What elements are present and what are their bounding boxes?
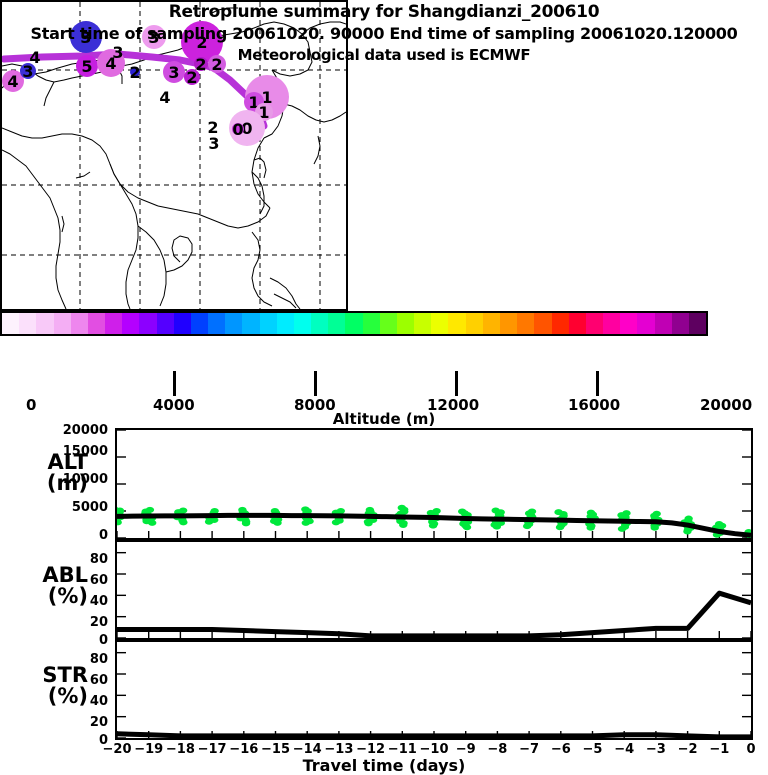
colorbar-divider [173, 371, 176, 396]
x-tick-label-2: −18 [165, 742, 195, 757]
colorbar-segment-24 [414, 313, 431, 334]
abl-ytick-20: 20 [46, 615, 108, 630]
colorbar-segment-0 [2, 313, 19, 334]
str-ytick-60: 60 [46, 673, 108, 688]
colorbar-segment-40 [689, 313, 706, 334]
abl-plot-panel[interactable] [115, 540, 753, 640]
str-line [117, 734, 751, 737]
plume-marker-label-0: 4 [7, 72, 18, 91]
colorbar-segment-9 [157, 313, 174, 334]
colorbar-segment-29 [500, 313, 517, 334]
alt-ytick-5000: 5000 [46, 500, 108, 515]
colorbar-segment-31 [534, 313, 551, 334]
colorbar-segment-28 [483, 313, 500, 334]
x-axis-title: Travel time (days) [0, 756, 768, 775]
sampling-time-line: Start time of sampling 20061020. 90000 E… [0, 24, 768, 43]
x-tick-label-4: −16 [229, 742, 259, 757]
colorbar-segment-30 [517, 313, 534, 334]
plume-marker-label-11: 3 [168, 63, 179, 82]
alt-scatter-point [366, 507, 374, 513]
x-tick-label-15: −5 [578, 742, 608, 757]
colorbar-segment-39 [672, 313, 689, 334]
colorbar-segment-1 [19, 313, 36, 334]
colorbar-segment-11 [191, 313, 208, 334]
alt-scatter-point [238, 507, 246, 513]
colorbar-segment-21 [363, 313, 380, 334]
colorbar-segment-14 [242, 313, 259, 334]
abl-axis-ticks [117, 553, 751, 638]
alt-scatter-point [301, 506, 309, 512]
colorbar-segment-3 [54, 313, 71, 334]
x-tick-label-17: −3 [641, 742, 671, 757]
alt-ytick-10000: 10000 [46, 472, 108, 487]
x-tick-label-0: −20 [102, 742, 132, 757]
alt-ytick-20000: 20000 [46, 423, 108, 438]
met-data-line: Meteorological data used is ECMWF [0, 46, 768, 64]
colorbar-segment-8 [139, 313, 156, 334]
alt-scatter-point [587, 510, 595, 516]
colorbar-segment-36 [620, 313, 637, 334]
colorbar-segment-34 [586, 313, 603, 334]
x-tick-label-7: −13 [324, 742, 354, 757]
alt-scatter-point [179, 507, 187, 513]
colorbar-divider [596, 371, 599, 396]
colorbar-segment-17 [294, 313, 311, 334]
alt-scatter-point [715, 521, 723, 527]
str-ytick-0: 0 [46, 733, 108, 748]
x-tick-label-6: −14 [292, 742, 322, 757]
x-tick-label-16: −4 [609, 742, 639, 757]
altitude-colorbar[interactable] [0, 311, 708, 336]
colorbar-segment-19 [328, 313, 345, 334]
x-tick-label-8: −12 [356, 742, 386, 757]
x-tick-label-19: −1 [704, 742, 734, 757]
colorbar-segment-6 [105, 313, 122, 334]
colorbar-axis-title: Altitude (m) [0, 410, 768, 428]
colorbar-segment-22 [380, 313, 397, 334]
abl-line [117, 593, 751, 636]
alt-scatter-point [491, 507, 499, 513]
colorbar-segment-5 [88, 313, 105, 334]
plume-marker-label-8: 2 [129, 63, 140, 82]
page-title: Retroplume summary for Shangdianzi_20061… [0, 2, 768, 22]
colorbar-segment-18 [311, 313, 328, 334]
colorbar-divider [455, 371, 458, 396]
plume-marker-label-14: 4 [159, 88, 170, 107]
str-ytick-80: 80 [46, 652, 108, 667]
alt-plot-svg [117, 430, 751, 538]
abl-ytick-80: 80 [46, 552, 108, 567]
colorbar-segment-4 [71, 313, 88, 334]
abl-ytick-60: 60 [46, 573, 108, 588]
colorbar-segment-38 [655, 313, 672, 334]
colorbar-segment-16 [277, 313, 294, 334]
colorbar-divider [314, 371, 317, 396]
colorbar-segment-13 [225, 313, 242, 334]
colorbar-segment-7 [122, 313, 139, 334]
colorbar-segment-10 [174, 313, 191, 334]
plume-marker-label-20: 0 [232, 120, 243, 139]
x-tick-label-13: −7 [514, 742, 544, 757]
alt-ytick-15000: 15000 [46, 444, 108, 459]
alt-scatter-point [622, 510, 630, 516]
colorbar-segment-20 [345, 313, 362, 334]
colorbar-segment-37 [637, 313, 654, 334]
alt-scatter-point [458, 509, 466, 515]
plume-marker-label-12: 2 [186, 68, 197, 87]
alt-plot-panel[interactable] [115, 428, 753, 540]
str-axis-ticks [117, 653, 751, 738]
abl-ytick-40: 40 [46, 594, 108, 609]
x-tick-label-14: −6 [546, 742, 576, 757]
colorbar-segment-26 [448, 313, 465, 334]
x-tick-label-18: −2 [673, 742, 703, 757]
x-tick-label-11: −9 [451, 742, 481, 757]
str-plot-svg [117, 642, 751, 738]
alt-scatter-point [684, 516, 692, 522]
alt-scatter-point [432, 508, 440, 514]
alt-ytick-0: 0 [46, 528, 108, 543]
x-tick-label-5: −15 [261, 742, 291, 757]
abl-plot-svg [117, 542, 751, 638]
str-ytick-40: 40 [46, 694, 108, 709]
colorbar-segment-27 [466, 313, 483, 334]
colorbar-segment-35 [603, 313, 620, 334]
x-tick-label-1: −19 [134, 742, 164, 757]
x-tick-label-9: −11 [387, 742, 417, 757]
str-plot-panel[interactable] [115, 640, 753, 740]
alt-scatter-point [652, 511, 660, 517]
x-tick-label-12: −8 [482, 742, 512, 757]
x-tick-label-10: −10 [419, 742, 449, 757]
colorbar-segment-23 [397, 313, 414, 334]
alt-scatter-point [528, 509, 536, 515]
str-ytick-20: 20 [46, 715, 108, 730]
abl-ytick-0: 0 [46, 633, 108, 648]
colorbar-segment-33 [569, 313, 586, 334]
colorbar-segment-12 [208, 313, 225, 334]
plume-marker-label-21: 3 [208, 134, 219, 153]
colorbar-segment-25 [431, 313, 448, 334]
alt-scatter-point [398, 505, 406, 511]
colorbar-segment-2 [36, 313, 53, 334]
alt-scatter-point [554, 509, 562, 515]
x-tick-label-3: −17 [197, 742, 227, 757]
alt-scatter-point [146, 507, 154, 513]
alt-scatter-point [337, 508, 345, 514]
x-tick-label-20: 0 [736, 742, 766, 757]
colorbar-segment-15 [260, 313, 277, 334]
colorbar-segment-32 [552, 313, 569, 334]
